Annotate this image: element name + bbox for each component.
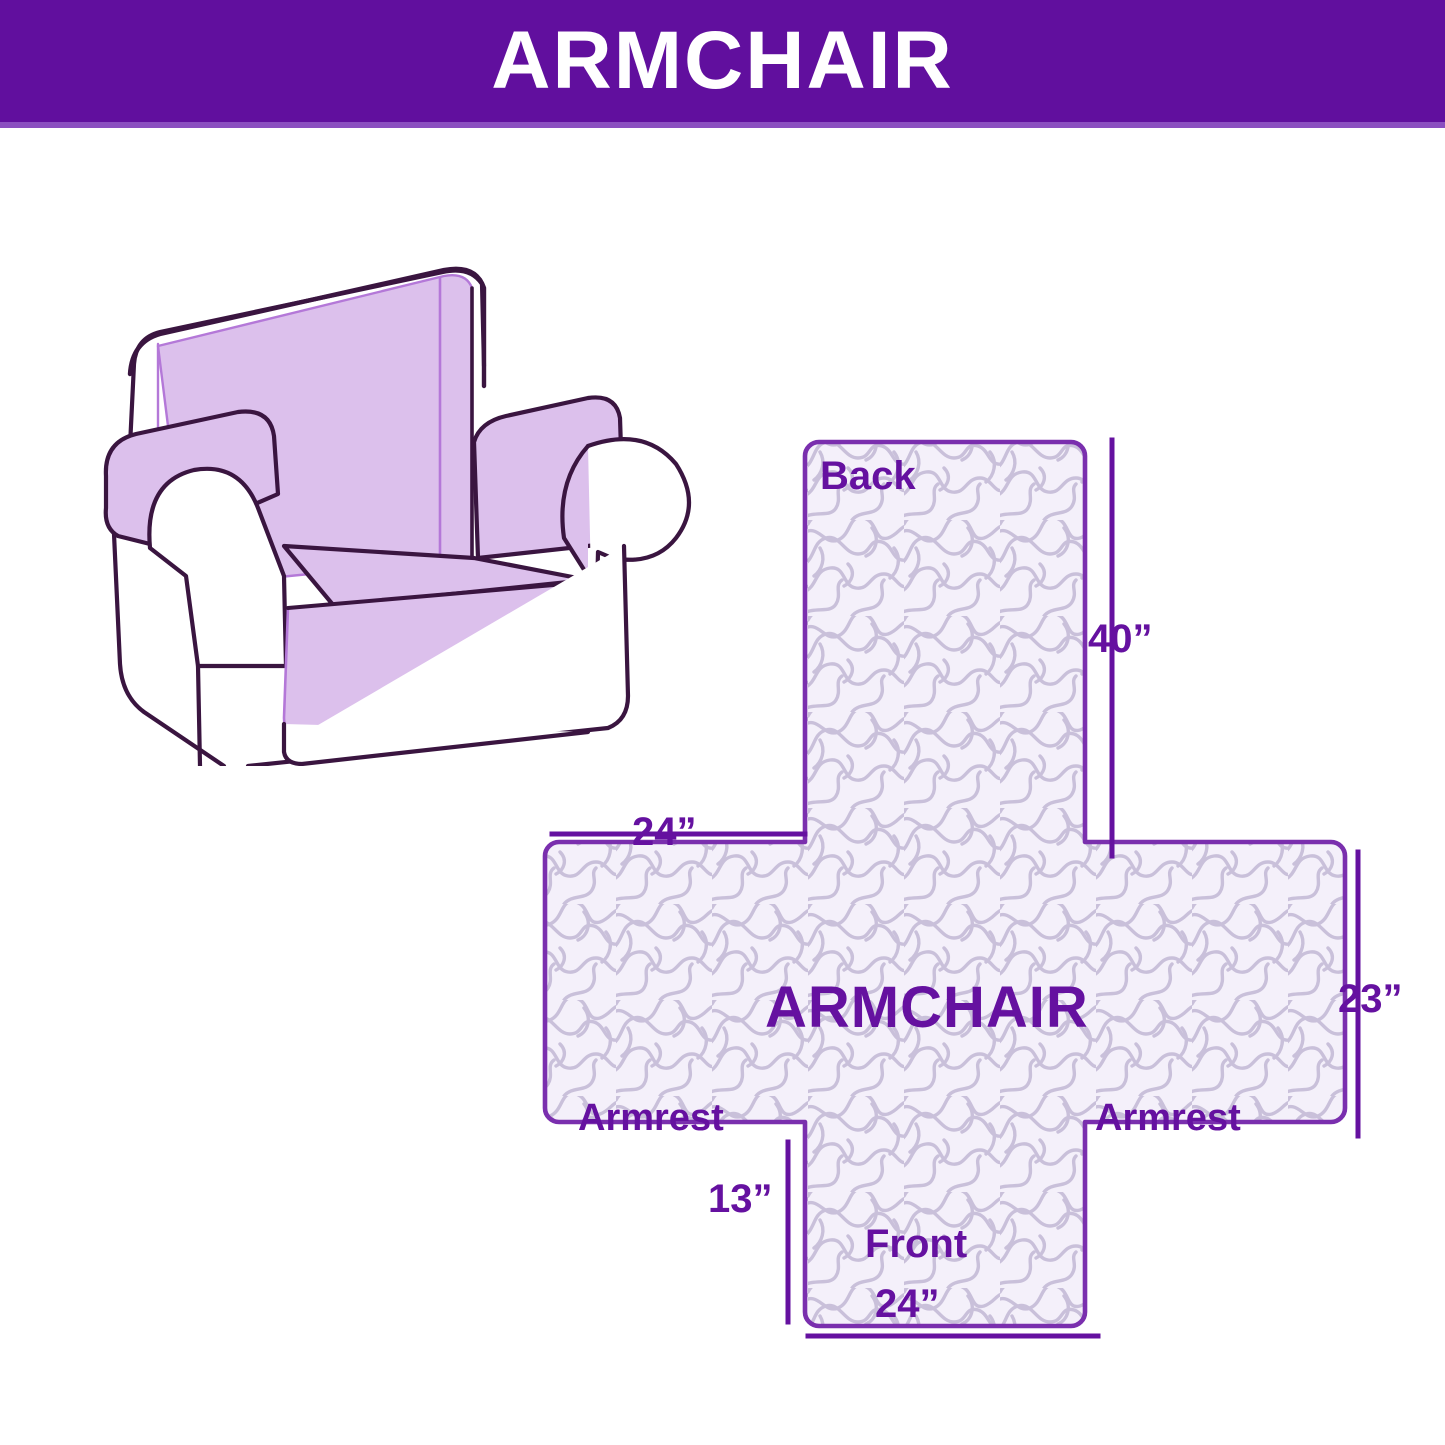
page-title: ARMCHAIR bbox=[491, 20, 953, 102]
panel-label-armrest-left: Armrest bbox=[578, 1099, 724, 1137]
panel-label-armrest-right: Armrest bbox=[1095, 1099, 1241, 1137]
header-banner: ARMCHAIR bbox=[0, 0, 1445, 128]
panel-label-front: Front bbox=[865, 1224, 967, 1264]
dimension-label-front-width: 24” bbox=[875, 1284, 940, 1324]
panel-label-back: Back bbox=[820, 456, 916, 496]
dimension-label-back-height: 40” bbox=[1088, 619, 1153, 659]
dimension-label-armrest-width: 24” bbox=[632, 812, 697, 852]
panel-label-center: ARMCHAIR bbox=[765, 979, 1089, 1037]
cover-layout-diagram: Back Armrest ARMCHAIR Armrest Front 40” … bbox=[520, 424, 1420, 1344]
dimension-label-front-height: 13” bbox=[708, 1179, 773, 1219]
content-stage: Back Armrest ARMCHAIR Armrest Front 40” … bbox=[0, 134, 1445, 1445]
dimension-label-center-height: 23” bbox=[1338, 979, 1403, 1019]
cover-cross-shape bbox=[545, 442, 1345, 1326]
